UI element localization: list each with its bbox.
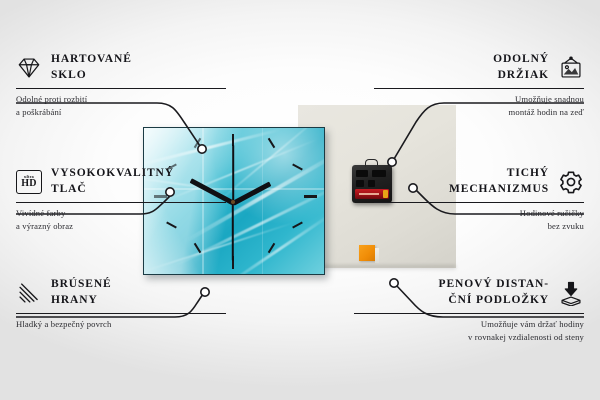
feature-sub-line1: Vivídné farby xyxy=(16,207,226,220)
clock-tick xyxy=(304,195,317,198)
feature-header: PENOVÝ DISTAN- ČNÍ PODLOŽKY xyxy=(354,277,584,309)
second-hand xyxy=(232,203,234,261)
feature-sub-line2: a výrazný obraz xyxy=(16,220,226,233)
ultra-hd-icon: ultra HD xyxy=(16,170,42,194)
diamond-icon xyxy=(16,55,42,81)
feature-polished-edges: BRÚSENÉ HRANY Hladký a bezpečný povrch xyxy=(16,277,226,331)
gear-icon xyxy=(558,169,584,195)
divider xyxy=(16,88,226,89)
infographic-stage: HARTOVANÉ SKLO Odolné proti rozbití a po… xyxy=(0,0,600,400)
feature-high-quality-print: ultra HD VYSOKOKVALITNÝ TLAČ Vivídné far… xyxy=(16,166,226,232)
feature-foam-spacers: PENOVÝ DISTAN- ČNÍ PODLOŽKY Umožňuje vám… xyxy=(354,277,584,343)
feature-sub-line2: montáž hodin na zeď xyxy=(374,106,584,119)
feature-silent-mechanism: TICHÝ MECHANIZMUS Hodinové ručičky bez z… xyxy=(374,166,584,232)
clock-tick xyxy=(194,138,202,148)
divider xyxy=(16,202,226,203)
feature-sub-line2: bez zvuku xyxy=(374,220,584,233)
divider xyxy=(354,313,584,314)
foam-spacer-icon xyxy=(558,280,584,306)
polished-edge-icon xyxy=(16,280,42,306)
clock-tick xyxy=(292,164,303,171)
foam-spacer-pad xyxy=(359,245,375,261)
wall-mount-icon xyxy=(558,55,584,81)
clock-tick xyxy=(268,138,276,148)
divider xyxy=(374,88,584,89)
ultra-hd-icon-main: HD xyxy=(21,179,37,189)
feature-title: HARTOVANÉ SKLO xyxy=(51,52,132,84)
divider xyxy=(374,202,584,203)
feature-hardened-glass: HARTOVANÉ SKLO Odolné proti rozbití a po… xyxy=(16,52,226,118)
feature-sub-line1: Umožňuje vám držať hodiny xyxy=(354,318,584,331)
second-hand-tail xyxy=(232,145,234,203)
feature-sub-line2: v rovnakej vzdialenosti od steny xyxy=(354,331,584,344)
feature-header: TICHÝ MECHANIZMUS xyxy=(374,166,584,198)
clock-hub xyxy=(231,200,235,204)
feature-sub-line1: Hladký a bezpečný povrch xyxy=(16,318,226,331)
feature-sub-line1: Hodinové ručičky xyxy=(374,207,584,220)
feature-header: HARTOVANÉ SKLO xyxy=(16,52,226,84)
feature-title: PENOVÝ DISTAN- ČNÍ PODLOŽKY xyxy=(439,277,549,309)
feature-title: TICHÝ MECHANIZMUS xyxy=(449,166,549,198)
divider xyxy=(16,313,226,314)
feature-sub-line1: Umožňuje snadnou xyxy=(374,93,584,106)
feature-header: ODOLNÝ DRŽIAK xyxy=(374,52,584,84)
feature-title: BRÚSENÉ HRANY xyxy=(51,277,112,309)
feature-title: VYSOKOKVALITNÝ TLAČ xyxy=(51,166,174,198)
feature-durable-mount: ODOLNÝ DRŽIAK Umožňuje snadnou montáž ho… xyxy=(374,52,584,118)
feature-header: ultra HD VYSOKOKVALITNÝ TLAČ xyxy=(16,166,226,198)
feature-sub-line2: a poškrábání xyxy=(16,106,226,119)
feature-sub-line1: Odolné proti rozbití xyxy=(16,93,226,106)
feature-header: BRÚSENÉ HRANY xyxy=(16,277,226,309)
feature-title: ODOLNÝ DRŽIAK xyxy=(493,52,549,84)
